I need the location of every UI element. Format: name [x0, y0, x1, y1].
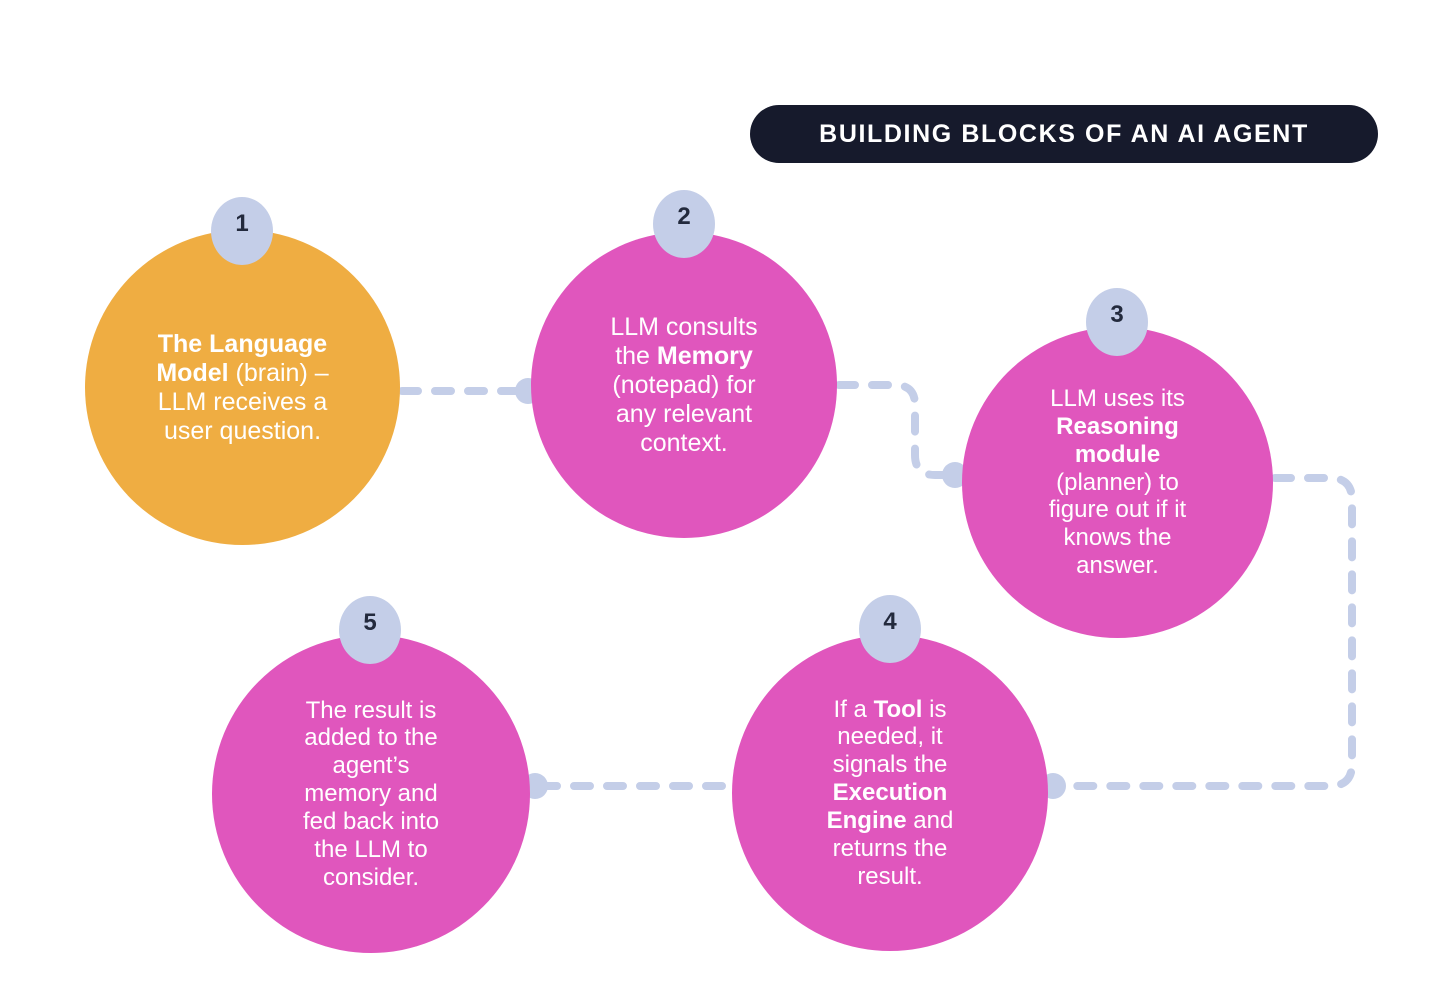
step-bubble-4[interactable]: If a Tool isneeded, itsignals theExecuti…	[732, 635, 1048, 951]
step-number-1: 1	[235, 212, 248, 236]
step-bubble-5[interactable]: The result isadded to theagent’smemory a…	[212, 635, 530, 953]
step-text-1: The LanguageModel (brain) –LLM receives …	[140, 330, 344, 446]
page-title: BUILDING BLOCKS OF AN AI AGENT	[819, 120, 1309, 149]
step-number-5: 5	[363, 611, 376, 635]
step-number-4: 4	[883, 610, 896, 634]
step-badge-2: 2	[653, 190, 715, 258]
step-badge-4: 4	[859, 595, 921, 663]
step-bubble-3[interactable]: LLM uses itsReasoningmodule(planner) tof…	[962, 327, 1273, 638]
step-number-2: 2	[677, 205, 690, 229]
page-title-pill: BUILDING BLOCKS OF AN AI AGENT	[750, 105, 1378, 163]
step-text-4: If a Tool isneeded, itsignals theExecuti…	[811, 696, 970, 891]
connector-2-to-3-path	[839, 385, 952, 475]
step-badge-1: 1	[211, 197, 273, 265]
step-bubble-1[interactable]: The LanguageModel (brain) –LLM receives …	[85, 230, 400, 545]
step-number-3: 3	[1110, 303, 1123, 327]
diagram-canvas: BUILDING BLOCKS OF AN AI AGENT The Langu…	[0, 0, 1456, 1004]
step-text-2: LLM consultsthe Memory(notepad) forany r…	[594, 313, 773, 458]
step-text-5: The result isadded to theagent’smemory a…	[287, 697, 455, 892]
step-text-3: LLM uses itsReasoningmodule(planner) tof…	[1033, 385, 1202, 580]
step-bubble-2[interactable]: LLM consultsthe Memory(notepad) forany r…	[531, 232, 837, 538]
step-badge-3: 3	[1086, 288, 1148, 356]
step-badge-5: 5	[339, 596, 401, 664]
